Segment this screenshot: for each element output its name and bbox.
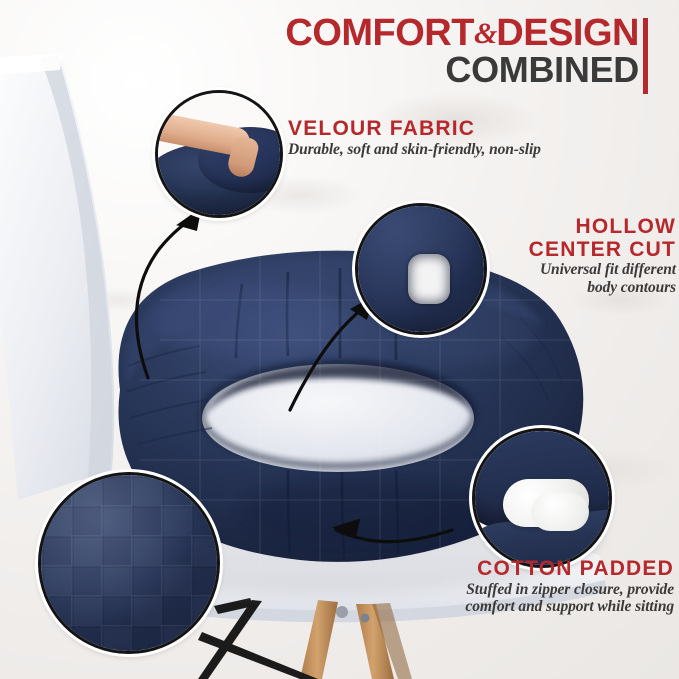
cotton-callout-photo — [475, 431, 609, 565]
feature-hollow-title-line1: HOLLOW — [430, 216, 676, 239]
feature-cotton-description-line2: comfort and support while sitting — [372, 598, 674, 616]
cotton-stuffing-highlight — [531, 493, 589, 531]
title-accent-bar — [643, 18, 648, 94]
title-line-1: COMFORT&DESIGN — [285, 14, 639, 52]
fabric-texture-photo — [41, 475, 217, 651]
title-wrapper: COMFORT&DESIGN COMBINED — [285, 14, 657, 88]
feature-velour-description: Durable, soft and skin-friendly, non-sli… — [288, 141, 628, 159]
feature-velour-title: VELOUR FABRIC — [288, 118, 628, 141]
infographic-canvas: COMFORT&DESIGN COMBINED — [0, 0, 679, 679]
feature-cotton-padded: COTTON PADDED Stuffed in zipper closure,… — [372, 558, 674, 616]
title-combined: COMBINED — [445, 49, 639, 90]
header-title-block: COMFORT&DESIGN COMBINED — [0, 14, 679, 88]
velour-callout-photo — [158, 93, 280, 215]
title-comfort: COMFORT — [285, 12, 474, 54]
feature-hollow-description-line2: body contours — [430, 279, 676, 297]
title-ampersand: & — [474, 17, 496, 50]
callout-fabric-texture-image — [38, 472, 220, 654]
feature-cotton-description-line1: Stuffed in zipper closure, provide — [372, 581, 674, 599]
title-design: DESIGN — [496, 12, 639, 54]
title-line-2: COMBINED — [285, 52, 639, 88]
feature-cotton-title: COTTON PADDED — [372, 558, 674, 581]
feature-velour-fabric: VELOUR FABRIC Durable, soft and skin-fri… — [288, 118, 628, 158]
feature-hollow-description-line1: Universal fit different — [430, 261, 676, 279]
feature-hollow-center-cut: HOLLOW CENTER CUT Universal fit differen… — [430, 216, 676, 297]
callout-cotton-padded-image — [472, 428, 612, 568]
feature-hollow-title-line2: CENTER CUT — [430, 239, 676, 262]
callout-velour-fabric-image — [155, 90, 283, 218]
